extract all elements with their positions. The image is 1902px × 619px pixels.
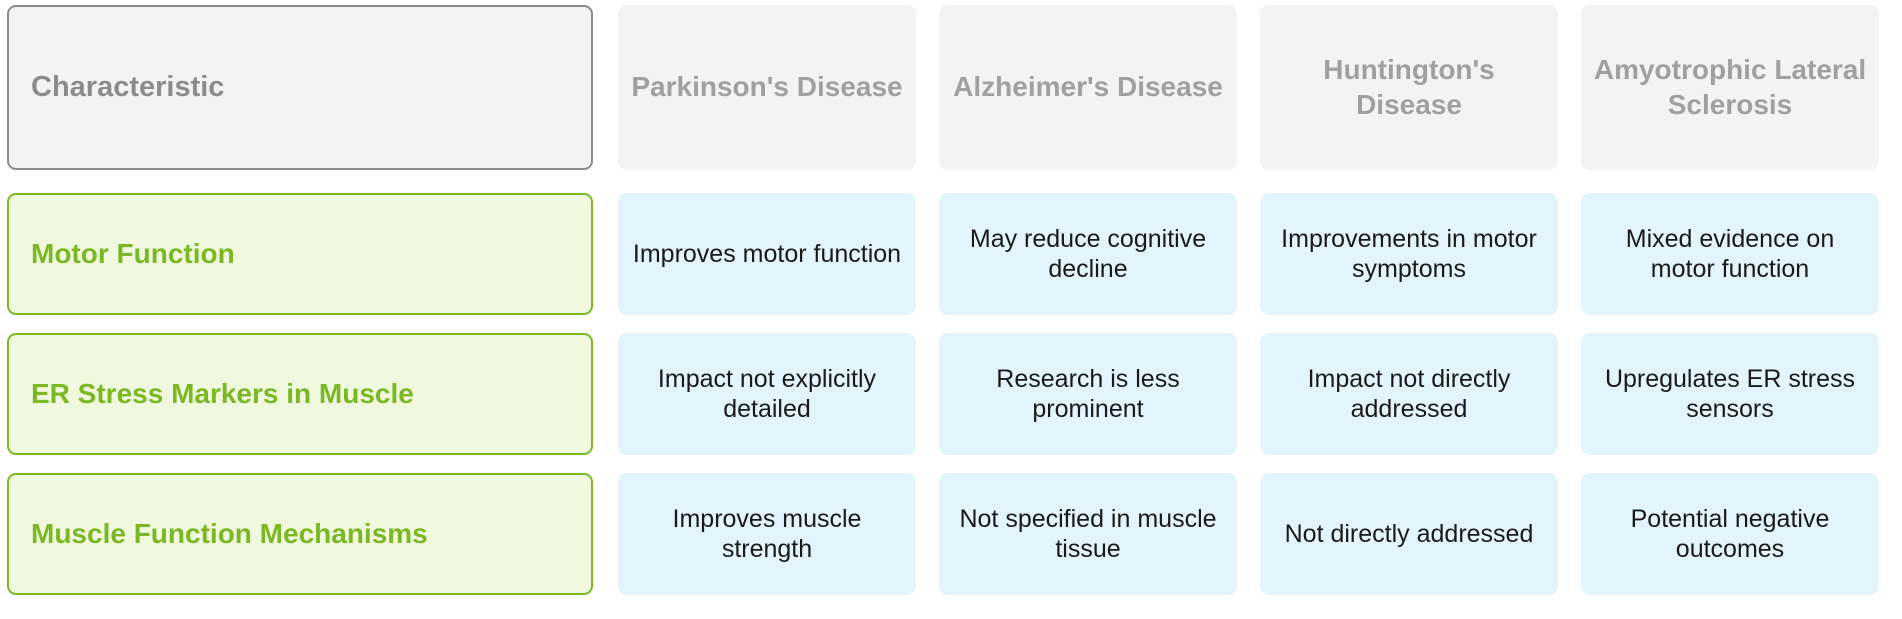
- table-row: Motor Function Improves motor function M…: [7, 193, 1895, 315]
- table-cell: May reduce cognitive decline: [939, 193, 1237, 315]
- table-cell-text: Impact not directly addressed: [1270, 364, 1548, 425]
- column-header-als: Amyotrophic Lateral Sclerosis: [1581, 5, 1879, 170]
- table-cell-text: Research is less prominent: [949, 364, 1227, 425]
- row-label-text: Muscle Function Mechanisms: [31, 517, 581, 551]
- column-header-label: Characteristic: [31, 70, 581, 105]
- table-cell-text: Not directly addressed: [1270, 519, 1548, 550]
- row-label-muscle-function-mechanisms: Muscle Function Mechanisms: [7, 473, 593, 595]
- table-row: ER Stress Markers in Muscle Impact not e…: [7, 333, 1895, 455]
- table-header-row: Characteristic Parkinson's Disease Alzhe…: [7, 5, 1895, 170]
- row-label-text: Motor Function: [31, 237, 581, 271]
- column-header-characteristic: Characteristic: [7, 5, 593, 170]
- column-header-parkinsons: Parkinson's Disease: [618, 5, 916, 170]
- table-cell-text: May reduce cognitive decline: [949, 224, 1227, 285]
- table-cell-text: Not specified in muscle tissue: [949, 504, 1227, 565]
- table-cell-text: Improves muscle strength: [628, 504, 906, 565]
- table-cell: Upregulates ER stress sensors: [1581, 333, 1879, 455]
- table-cell: Research is less prominent: [939, 333, 1237, 455]
- table-cell: Improvements in motor symptoms: [1260, 193, 1558, 315]
- table-cell-text: Improvements in motor symptoms: [1270, 224, 1548, 285]
- row-label-text: ER Stress Markers in Muscle: [31, 377, 581, 411]
- column-header-label: Amyotrophic Lateral Sclerosis: [1591, 53, 1869, 121]
- table-cell-text: Potential negative outcomes: [1591, 504, 1869, 565]
- table-cell: Improves muscle strength: [618, 473, 916, 595]
- table-cell: Improves motor function: [618, 193, 916, 315]
- table-cell: Not directly addressed: [1260, 473, 1558, 595]
- column-header-label: Alzheimer's Disease: [949, 70, 1227, 104]
- row-label-er-stress-markers-in-muscle: ER Stress Markers in Muscle: [7, 333, 593, 455]
- comparison-table: Characteristic Parkinson's Disease Alzhe…: [0, 0, 1902, 619]
- table-cell-text: Upregulates ER stress sensors: [1591, 364, 1869, 425]
- table-cell-text: Mixed evidence on motor function: [1591, 224, 1869, 285]
- column-header-huntingtons: Huntington's Disease: [1260, 5, 1558, 170]
- column-header-alzheimers: Alzheimer's Disease: [939, 5, 1237, 170]
- row-label-motor-function: Motor Function: [7, 193, 593, 315]
- table-cell: Not specified in muscle tissue: [939, 473, 1237, 595]
- table-cell: Potential negative outcomes: [1581, 473, 1879, 595]
- column-header-label: Parkinson's Disease: [628, 70, 906, 104]
- table-cell: Mixed evidence on motor function: [1581, 193, 1879, 315]
- table-cell: Impact not directly addressed: [1260, 333, 1558, 455]
- table-cell-text: Improves motor function: [628, 239, 906, 270]
- table-cell-text: Impact not explicitly detailed: [628, 364, 906, 425]
- column-header-label: Huntington's Disease: [1270, 53, 1548, 121]
- table-cell: Impact not explicitly detailed: [618, 333, 916, 455]
- table-row: Muscle Function Mechanisms Improves musc…: [7, 473, 1895, 595]
